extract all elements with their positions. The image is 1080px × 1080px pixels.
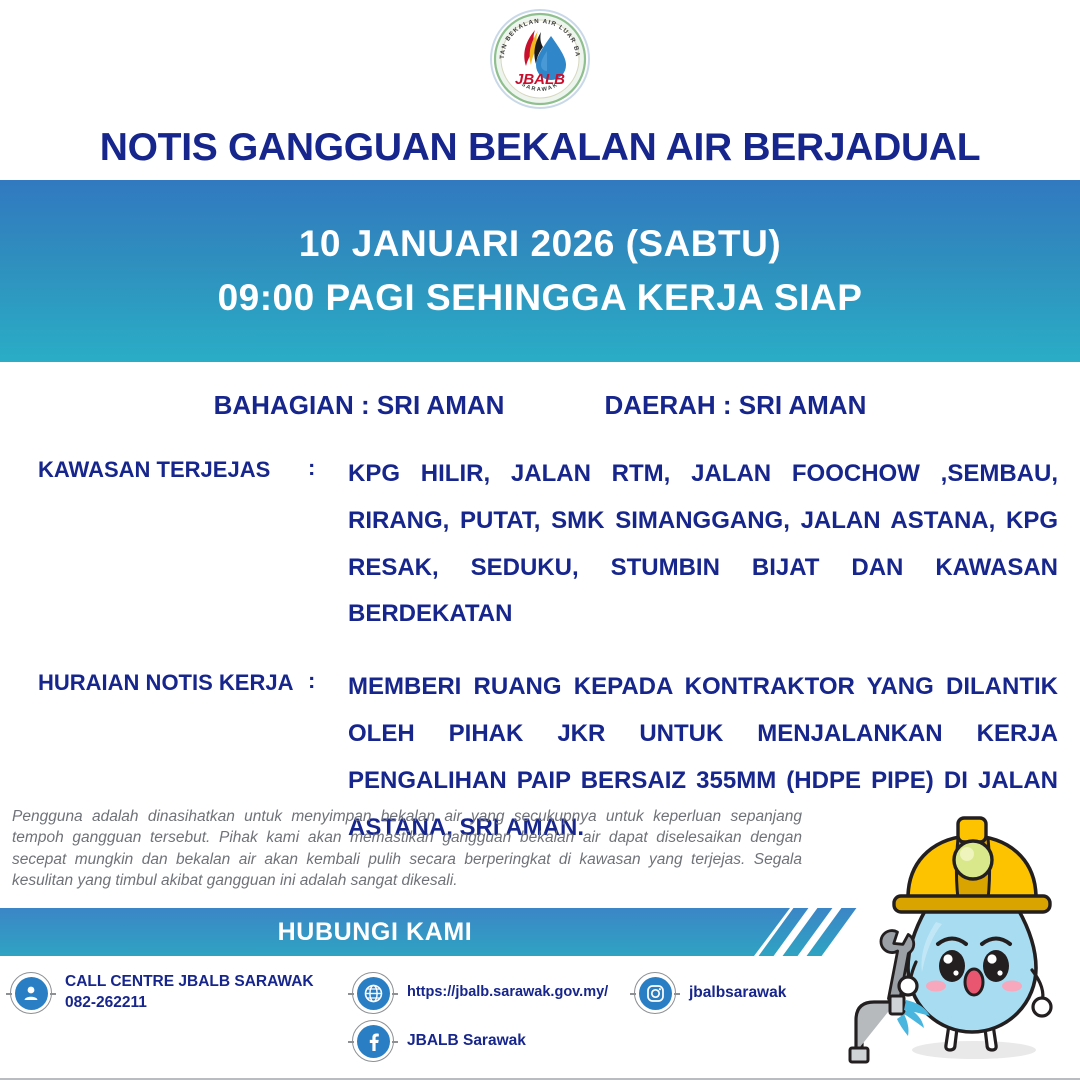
contact-facebook[interactable]: JBALB Sarawak (352, 1020, 526, 1062)
instagram-icon (634, 972, 676, 1014)
affected-areas-label: KAWASAN TERJEJAS (38, 451, 288, 486)
division-row: BAHAGIAN : SRI AMAN DAERAH : SRI AMAN (0, 390, 1080, 451)
svg-text:JBALB: JBALB (515, 71, 565, 88)
call-centre-line2: 082-262211 (65, 994, 147, 1011)
notice-date: 10 JANUARI 2026 (SABTU) (299, 217, 781, 271)
date-banner: 10 JANUARI 2026 (SABTU) 09:00 PAGI SEHIN… (0, 180, 1080, 362)
affected-areas-row: KAWASAN TERJEJAS : KPG HILIR, JALAN RTM,… (0, 451, 1080, 638)
contact-website[interactable]: https://jbalb.sarawak.gov.my/ (352, 972, 608, 1014)
facebook-text: JBALB Sarawak (407, 1031, 526, 1052)
contact-banner-title: HUBUNGI KAMI (278, 918, 473, 947)
page-title: NOTIS GANGGUAN BEKALAN AIR BERJADUAL (0, 112, 1080, 180)
call-centre-text: CALL CENTRE JBALB SARAWAK 082-262211 (65, 972, 314, 1014)
facebook-icon (352, 1020, 394, 1062)
contact-banner: HUBUNGI KAMI (0, 908, 840, 956)
daerah-label: DAERAH : SRI AMAN (604, 390, 866, 421)
user-icon (10, 972, 52, 1014)
logo-container: JABATAN BEKALAN AIR LUAR BANDAR SARAWAK … (0, 0, 1080, 112)
bahagian-label: BAHAGIAN : SRI AMAN (214, 390, 505, 421)
contacts-section: CALL CENTRE JBALB SARAWAK 082-262211 htt… (0, 968, 840, 1072)
disclaimer-text: Pengguna adalah dinasihatkan untuk menyi… (12, 806, 802, 892)
jbalb-logo: JABATAN BEKALAN AIR LUAR BANDAR SARAWAK … (489, 8, 591, 110)
work-description-colon: : (288, 664, 348, 697)
call-centre-line1: CALL CENTRE JBALB SARAWAK (65, 973, 314, 990)
website-text: https://jbalb.sarawak.gov.my/ (407, 983, 608, 1003)
globe-icon (352, 972, 394, 1014)
work-description-label: HURAIAN NOTIS KERJA (38, 664, 288, 699)
water-droplet-mascot (846, 802, 1074, 1072)
contact-instagram[interactable]: jbalbsarawak (634, 972, 786, 1014)
notice-body: BAHAGIAN : SRI AMAN DAERAH : SRI AMAN KA… (0, 362, 1080, 851)
contact-call-centre[interactable]: CALL CENTRE JBALB SARAWAK 082-262211 (10, 972, 314, 1014)
affected-areas-colon: : (288, 451, 348, 484)
instagram-text: jbalbsarawak (689, 983, 786, 1004)
affected-areas-value: KPG HILIR, JALAN RTM, JALAN FOOCHOW ,SEM… (348, 451, 1058, 638)
notice-time: 09:00 PAGI SEHINGGA KERJA SIAP (218, 271, 863, 325)
contact-banner-bar: HUBUNGI KAMI (0, 908, 790, 956)
